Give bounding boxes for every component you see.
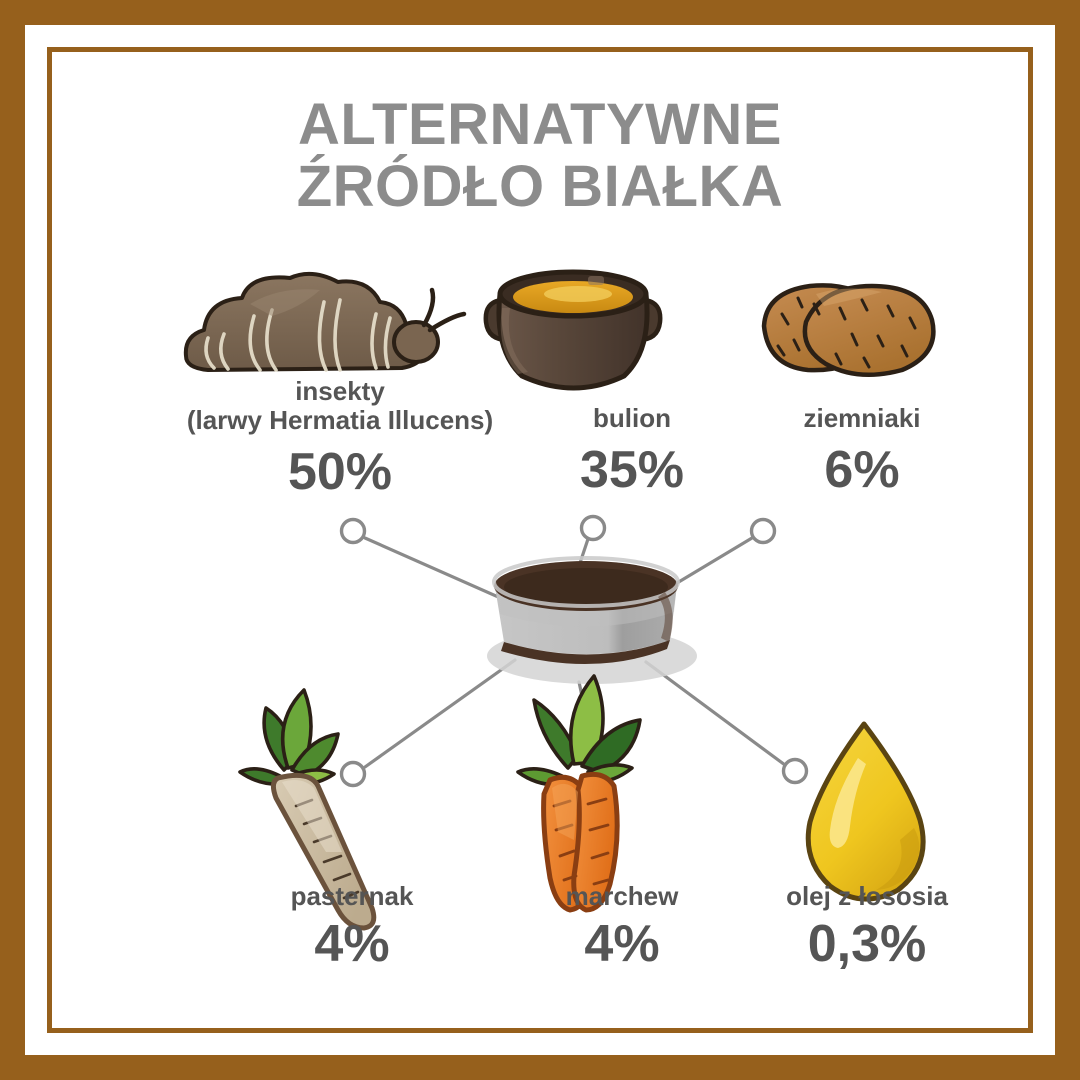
poster-outer-border: ALTERNATYWNE ŹRÓDŁO BIAŁKA bbox=[0, 0, 1080, 1080]
carrot-icon bbox=[518, 676, 640, 910]
connector-line-salmonoil bbox=[646, 662, 785, 765]
broth-pot-icon bbox=[486, 272, 660, 388]
connector-node-insects[interactable] bbox=[342, 520, 365, 543]
connector-line-parsnip bbox=[365, 660, 515, 767]
infographic-canvas: ALTERNATYWNE ŹRÓDŁO BIAŁKA bbox=[52, 52, 1028, 1028]
connector-node-potatoes[interactable] bbox=[752, 520, 775, 543]
parsnip-icon bbox=[240, 690, 374, 928]
connector-node-broth[interactable] bbox=[582, 517, 605, 540]
connector-line-insects bbox=[365, 538, 514, 604]
potatoes-icon bbox=[764, 285, 933, 374]
connector-node-parsnip[interactable] bbox=[342, 763, 365, 786]
oil-drop-icon bbox=[808, 724, 923, 899]
infographic-scene bbox=[52, 52, 1028, 1028]
connector-node-salmonoil[interactable] bbox=[784, 760, 807, 783]
pet-food-bowl-icon bbox=[487, 558, 697, 684]
insect-larva-icon bbox=[186, 274, 464, 370]
